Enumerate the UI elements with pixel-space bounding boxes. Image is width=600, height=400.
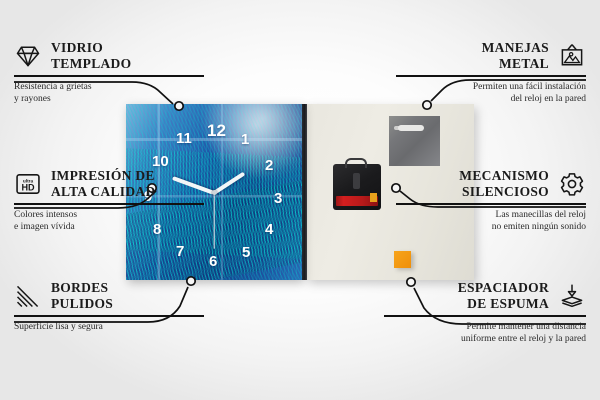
feature-title-line-1: MANEJAS [482,40,549,56]
divider [14,315,204,317]
feature-header: ESPACIADOR DE ESPUMA [384,280,586,311]
battery [336,196,378,206]
divider [396,203,586,205]
feature-title-line-2: DE ESPUMA [458,296,549,312]
feature-header: ultra HD IMPRESIÓN DE ALTA CALIDAD [14,168,204,199]
feature-header: BORDES PULIDOS [14,280,204,311]
feature-title-line-1: VIDRIO [51,40,131,56]
divider [384,315,586,317]
clock-numeral: 4 [265,222,273,237]
feature-description-line-1: Permite mantener una distancia [384,321,586,333]
feature-bordes-pulidos[interactable]: BORDES PULIDOS Superficie lisa y segura [14,280,204,333]
feature-description-line-2: del reloj en la pared [396,93,586,105]
clock-center-cap [212,190,217,195]
divider [14,203,204,205]
feature-title-line-1: MECANISMO [459,168,549,184]
clock-numeral: 7 [176,244,184,259]
clock-numeral: 5 [242,245,250,260]
feature-description-line-2: e imagen vívida [14,221,204,233]
feature-description-line-1: Superficie lisa y segura [14,321,204,333]
feature-description-line-2: y rayones [14,93,204,105]
clock-numeral: 2 [265,158,273,173]
feature-title-line-2: ALTA CALIDAD [51,184,156,200]
feature-header: MECANISMO SILENCIOSO [396,168,586,199]
feature-description-line-2: no emiten ningún sonido [396,221,586,233]
movement-shaft [353,173,360,189]
feature-title-line-2: TEMPLADO [51,56,131,72]
feature-title-line-1: ESPACIADOR [458,280,549,296]
feature-header: MANEJAS METAL [396,40,586,71]
feature-manejas-metal[interactable]: MANEJAS METAL Permiten una fácil instala… [396,40,586,105]
feature-description-line-1: Permiten una fácil instalación [396,81,586,93]
feature-title-line-2: PULIDOS [51,296,113,312]
feature-description-line-1: Resistencia a grietas [14,81,204,93]
clock-numeral: 3 [274,191,282,206]
clock-numeral: 1 [241,132,249,147]
diamond-icon [14,42,42,70]
diagonal-stripes-icon [14,282,42,310]
ultra-hd-badge-icon: ultra HD [14,170,42,198]
divider [396,75,586,77]
foam-spacer [394,251,411,268]
picture-frame-icon [558,42,586,70]
clock-numeral: 11 [176,131,192,146]
svg-text:HD: HD [21,182,35,192]
feature-description-line-2: uniforme entre el reloj y la pared [384,333,586,345]
feature-espaciador-de-espuma[interactable]: ESPACIADOR DE ESPUMA Permite mantener un… [384,280,586,345]
arrow-onto-layers-icon [558,282,586,310]
feature-title-line-2: METAL [482,56,549,72]
clock-numeral: 6 [209,254,217,269]
gear-icon [558,170,586,198]
feature-title-line-2: SILENCIOSO [459,184,549,200]
feature-description-line-1: Colores intensos [14,209,204,221]
quartz-movement [333,164,381,210]
feature-vidrio-templado[interactable]: VIDRIO TEMPLADO Resistencia a grietas y … [14,40,204,105]
feature-title-line-1: IMPRESIÓN DE [51,168,156,184]
clock-second-hand [213,193,214,249]
infographic-canvas: 12 1 2 3 4 5 6 7 8 9 10 11 [0,0,600,400]
divider [14,75,204,77]
movement-bail [345,158,367,168]
clock-numeral: 10 [152,154,169,169]
feature-mecanismo-silencioso[interactable]: MECANISMO SILENCIOSO Las manecillas del … [396,168,586,233]
clock-numeral: 12 [207,122,226,139]
feature-description-line-1: Las manecillas del reloj [396,209,586,221]
feature-header: VIDRIO TEMPLADO [14,40,204,71]
metal-hanger [389,116,440,166]
feature-title-line-1: BORDES [51,280,113,296]
feature-impresion-alta-calidad[interactable]: ultra HD IMPRESIÓN DE ALTA CALIDAD Color… [14,168,204,233]
